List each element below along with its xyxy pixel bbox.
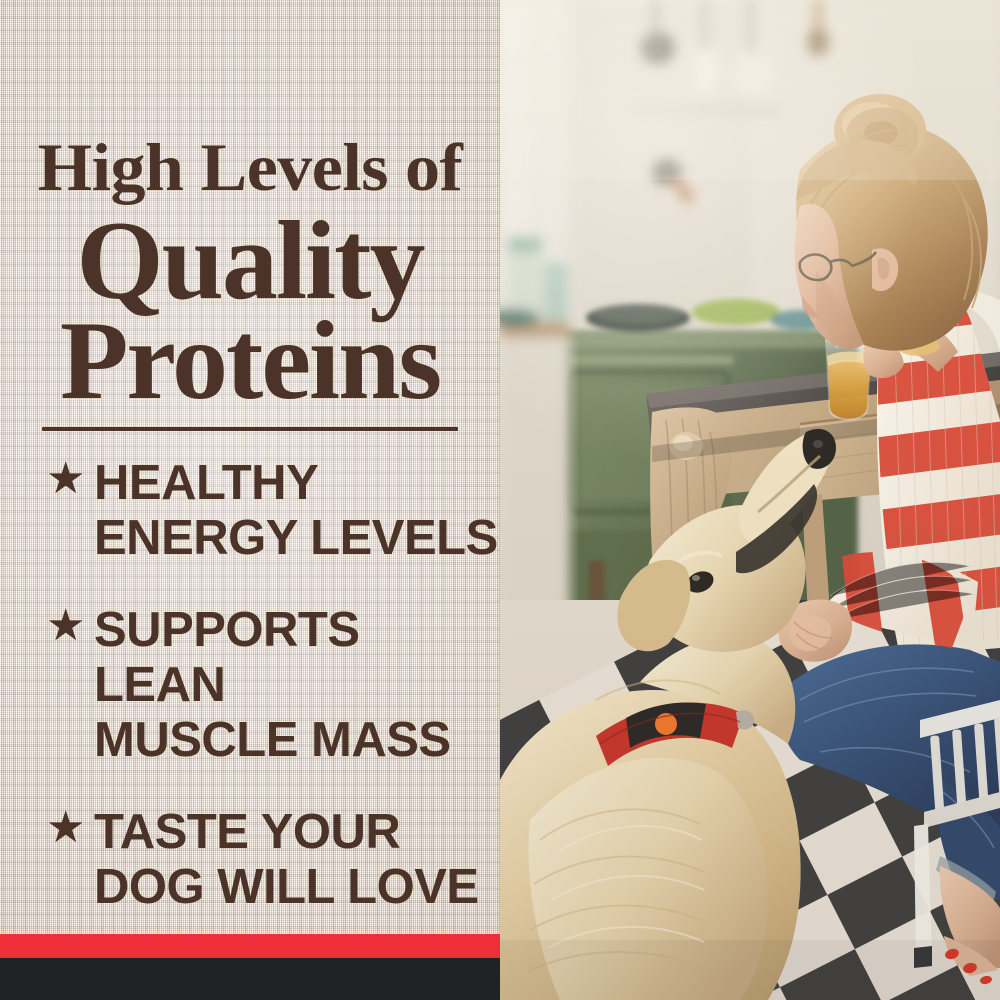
benefit-line-1: TASTE YOUR (94, 805, 400, 859)
benefit-line-1: HEALTHY (94, 456, 318, 510)
copy-panel: High Levels of Quality Proteins ★ HEALTH… (0, 0, 500, 1000)
headline-line-1: High Levels of (0, 133, 500, 201)
list-item: ★ SUPPORTS LEAN MUSCLE MASS (0, 602, 500, 768)
benefits-list: ★ HEALTHY ENERGY LEVELS ★ SUPPORTS LEAN … (0, 455, 500, 951)
star-icon: ★ (46, 455, 88, 503)
list-item: ★ TASTE YOUR DOG WILL LOVE (0, 804, 500, 915)
headline-divider (42, 427, 458, 431)
benefit-text: HEALTHY ENERGY LEVELS (88, 455, 500, 566)
dark-footer-bar (0, 958, 500, 1000)
headline-line-3: Proteins (0, 305, 500, 417)
benefit-line-2: ENERGY LEVELS (94, 511, 498, 565)
collar-ring (736, 710, 754, 729)
benefit-text: SUPPORTS LEAN MUSCLE MASS (88, 602, 500, 768)
list-item: ★ HEALTHY ENERGY LEVELS (0, 455, 500, 566)
lifestyle-photo (500, 0, 1000, 1000)
photo-scene (500, 0, 1000, 1000)
promo-banner: High Levels of Quality Proteins ★ HEALTH… (0, 0, 1000, 1000)
benefit-line-2: DOG WILL LOVE (94, 860, 479, 914)
star-icon: ★ (46, 602, 88, 650)
red-accent-bar (0, 934, 500, 958)
benefit-line-1: SUPPORTS LEAN (94, 603, 360, 712)
star-icon: ★ (46, 804, 88, 852)
benefit-line-2: MUSCLE MASS (94, 713, 451, 767)
benefit-text: TASTE YOUR DOG WILL LOVE (88, 804, 500, 915)
